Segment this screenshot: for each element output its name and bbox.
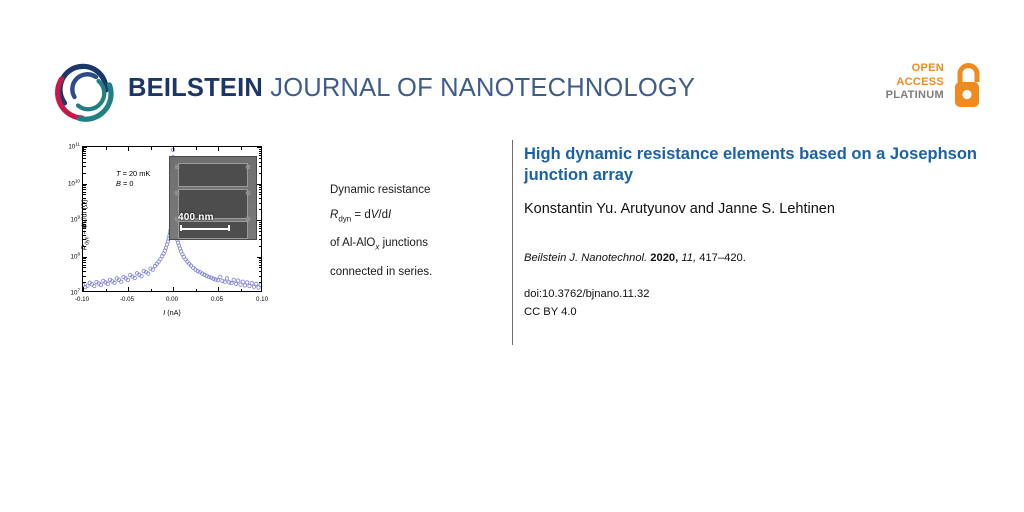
x-axis-minor-tick <box>196 147 197 150</box>
y-axis-minor-tick <box>259 166 262 167</box>
y-axis-minor-tick <box>259 265 262 266</box>
citation-year: 2020, <box>650 252 678 264</box>
caption-line-4: connected in series. <box>330 260 495 285</box>
y-axis-minor-tick <box>259 194 262 195</box>
oa-line-access: ACCESS <box>886 76 944 90</box>
x-axis-minor-tick <box>128 289 129 292</box>
y-axis-minor-tick <box>259 228 262 229</box>
y-axis-minor-tick <box>259 222 262 223</box>
y-axis-minor-tick <box>259 262 262 263</box>
column-divider <box>512 140 513 345</box>
y-axis-minor-tick <box>259 239 262 240</box>
y-axis-minor-tick <box>259 246 262 247</box>
x-axis-minor-tick <box>241 147 242 150</box>
caption-line-3-rest: junctions <box>379 237 428 249</box>
y-axis-minor-tick <box>259 260 262 261</box>
y-axis-tick-label: 1010 <box>54 178 80 187</box>
article-title: High dynamic resistance elements based o… <box>524 144 1002 186</box>
x-axis-minor-tick <box>196 289 197 292</box>
y-axis-minor-tick <box>259 185 262 186</box>
caption-subscript-dyn: dyn <box>338 214 351 223</box>
x-axis-minor-tick <box>241 289 242 292</box>
y-axis-tick-label: 108 <box>54 251 80 260</box>
graphical-abstract-caption: Dynamic resistance Rdyn = dV/dI of Al-Al… <box>330 178 495 285</box>
y-axis-title: Rdyn = dV/dI (Ω) <box>79 152 90 298</box>
citation-journal: Beilstein J. Nanotechnol. <box>524 252 647 264</box>
y-axis-minor-tick <box>259 224 262 225</box>
citation-pages: 417–420. <box>699 252 746 264</box>
x-axis-tick <box>218 287 219 291</box>
x-axis-tick <box>218 147 219 151</box>
open-lock-icon <box>950 60 984 110</box>
x-axis-tick-label: -0.10 <box>75 296 89 303</box>
x-axis-minor-tick <box>151 147 152 150</box>
caption-line-1: Dynamic resistance <box>330 178 495 203</box>
y-axis-tick-label: 109 <box>54 214 80 223</box>
plot-area: 400 nm T = 20 mK B = 0 <box>82 146 262 292</box>
y-axis-minor-tick <box>259 276 262 277</box>
sem-contact-dot <box>246 191 250 195</box>
journal-wordmark: BEILSTEIN JOURNAL OF NANOTECHNOLOGY <box>128 74 695 103</box>
x-axis-tick <box>173 287 174 291</box>
y-axis-minor-tick <box>259 189 262 190</box>
sem-contact-dot <box>246 217 250 221</box>
y-axis-minor-tick <box>259 226 262 227</box>
caption-line-2: Rdyn = dV/dI <box>330 203 495 231</box>
x-axis-tick-label: 0.00 <box>166 296 178 303</box>
article-license: CC BY 4.0 <box>524 304 577 321</box>
sem-scalebar-label: 400 nm <box>178 212 214 223</box>
sem-contact-dot <box>175 165 179 169</box>
y-axis-minor-tick <box>259 151 262 152</box>
y-axis-minor-tick <box>259 187 262 188</box>
open-access-label: OPEN ACCESS PLATINUM <box>886 62 944 103</box>
y-axis-minor-tick <box>259 173 262 174</box>
y-axis-tick-label: 107 <box>54 287 80 296</box>
x-axis-tick-label: -0.05 <box>120 296 134 303</box>
caption-line-3-prefix: of Al-AlO <box>330 237 375 249</box>
y-axis-minor-tick <box>259 198 262 199</box>
y-axis-tick-label: 1011 <box>54 141 80 150</box>
journal-masthead: BEILSTEIN JOURNAL OF NANOTECHNOLOGY OPEN… <box>0 0 1024 130</box>
caption-line-3: of Al-AlOx junctions <box>330 231 495 259</box>
annotation-magnetic-field: B = 0 <box>116 179 150 189</box>
y-axis-minor-tick <box>259 203 262 204</box>
y-axis-minor-tick <box>259 158 262 159</box>
x-axis-title: I (nA) <box>82 308 262 317</box>
sem-micrograph-inset: 400 nm <box>169 156 257 240</box>
x-axis-minor-tick <box>128 147 129 150</box>
y-axis-minor-tick <box>259 155 262 156</box>
y-axis-minor-tick <box>259 209 262 210</box>
sem-contact-dot <box>175 191 179 195</box>
y-axis-minor-tick <box>259 162 262 163</box>
y-axis-minor-tick <box>259 149 262 150</box>
x-axis-minor-tick <box>151 289 152 292</box>
y-axis-minor-tick <box>259 267 262 268</box>
x-axis-tick-label: 0.05 <box>211 296 223 303</box>
citation-volume: 11, <box>681 252 696 264</box>
x-axis-minor-tick <box>106 289 107 292</box>
sem-structure-top <box>178 163 248 187</box>
wordmark-journal-of-nanotechnology: JOURNAL OF NANOTECHNOLOGY <box>263 74 695 102</box>
article-doi[interactable]: doi:10.3762/bjnano.11.32 <box>524 286 649 303</box>
article-authors: Konstantin Yu. Arutyunov and Janne S. Le… <box>524 200 1002 219</box>
y-axis-minor-tick <box>259 282 262 283</box>
x-axis-minor-tick <box>106 147 107 150</box>
y-axis-minor-tick <box>259 153 262 154</box>
oa-line-open: OPEN <box>886 62 944 76</box>
graphical-abstract-figure: 400 nm T = 20 mK B = 0 I (nA) Rdyn = dV/… <box>55 140 295 330</box>
y-axis-minor-tick <box>259 271 262 272</box>
sem-contact-dot <box>246 165 250 169</box>
y-axis-minor-tick <box>259 192 262 193</box>
article-citation: Beilstein J. Nanotechnol. 2020, 11, 417–… <box>524 251 1002 266</box>
x-axis-tick <box>173 147 174 151</box>
sem-scalebar <box>180 225 230 231</box>
wordmark-beilstein: BEILSTEIN <box>128 74 263 102</box>
x-axis-tick-label: 0.10 <box>256 296 268 303</box>
y-axis-minor-tick <box>259 231 262 232</box>
y-axis-minor-tick <box>259 235 262 236</box>
plot-condition-annotations: T = 20 mK B = 0 <box>116 169 150 189</box>
caption-line-2-rest: = dV/dI <box>351 209 391 221</box>
annotation-temperature: T = 20 mK <box>116 169 150 179</box>
y-axis-minor-tick <box>259 258 262 259</box>
oa-line-platinum: PLATINUM <box>886 89 944 103</box>
open-access-badge: OPEN ACCESS PLATINUM <box>872 62 984 118</box>
y-axis-minor-tick <box>83 149 86 150</box>
beilstein-spiral-logo-icon <box>52 57 118 123</box>
